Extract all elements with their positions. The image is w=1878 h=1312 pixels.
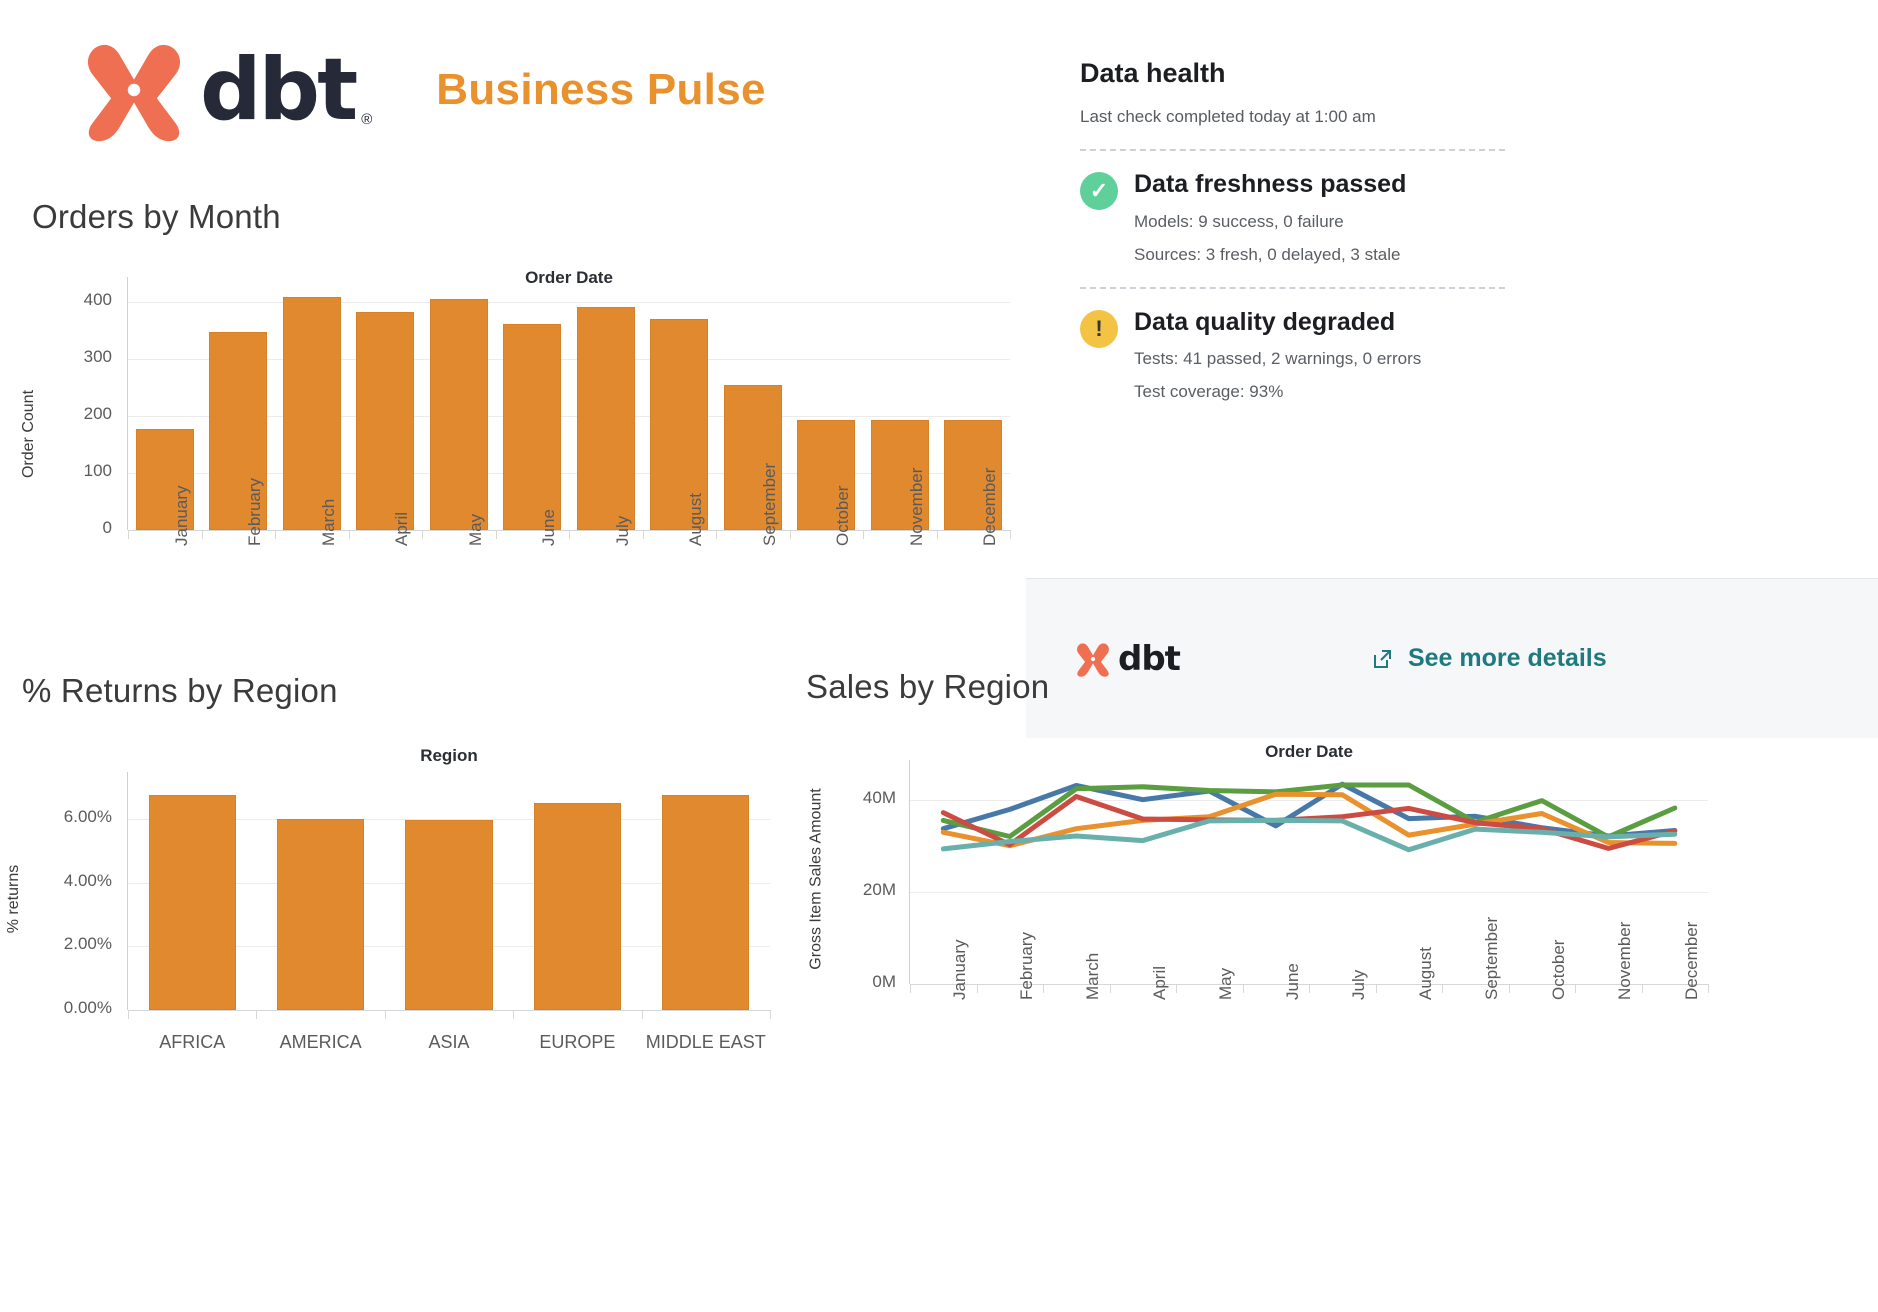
- health-item-line: Tests: 41 passed, 2 warnings, 0 errors: [1134, 349, 1600, 369]
- x-tick-label: MIDDLE EAST: [642, 1032, 770, 1053]
- x-tick-label: October: [1549, 940, 1569, 1000]
- bar[interactable]: [277, 819, 364, 1010]
- x-tick: [128, 530, 129, 539]
- dbt-cta-card: dbt See more details: [1026, 578, 1878, 738]
- x-tick: [256, 1010, 257, 1019]
- x-tick-label: April: [392, 512, 412, 546]
- x-tick: [716, 530, 717, 539]
- x-tick-label: March: [1083, 953, 1103, 1000]
- orders-by-month-title: Orders by Month: [32, 198, 281, 236]
- health-item-heading: Data quality degraded: [1134, 309, 1600, 337]
- x-tick: [910, 984, 911, 993]
- x-tick-label: ASIA: [385, 1032, 513, 1053]
- x-tick: [863, 530, 864, 539]
- dbt-x-logo-icon: [1074, 641, 1112, 677]
- dbt-registered-mark: ®: [361, 111, 372, 128]
- page-title: Business Pulse: [436, 65, 765, 115]
- x-tick-label: EUROPE: [513, 1032, 641, 1053]
- x-tick-label: March: [319, 499, 339, 546]
- y-tick-label: 0M: [838, 972, 896, 992]
- returns-plot-area: 0.00%2.00%4.00%6.00%AFRICAAMERICAASIAEUR…: [128, 778, 770, 1038]
- y-tick-label: 6.00%: [28, 807, 112, 827]
- y-axis-line: [127, 772, 128, 1010]
- x-tick-label: November: [907, 468, 927, 546]
- x-tick-label: June: [1283, 963, 1303, 1000]
- x-tick: [496, 530, 497, 539]
- x-tick: [1010, 530, 1011, 539]
- x-tick-label: August: [1416, 947, 1436, 1000]
- x-tick-label: July: [1349, 970, 1369, 1000]
- gridline: [128, 1010, 770, 1011]
- dbt-x-logo-icon: [78, 38, 190, 142]
- y-tick-label: 4.00%: [28, 871, 112, 891]
- see-more-details-label: See more details: [1408, 644, 1607, 673]
- x-tick-label: February: [245, 478, 265, 546]
- bar[interactable]: [577, 307, 635, 530]
- x-tick: [1575, 984, 1576, 993]
- x-tick-label: May: [1216, 968, 1236, 1000]
- x-tick-label: December: [1682, 922, 1702, 1000]
- x-tick: [1243, 984, 1244, 993]
- sales-by-region-title: Sales by Region: [806, 668, 1049, 706]
- health-item-line: Sources: 3 fresh, 0 delayed, 3 stale: [1134, 245, 1600, 265]
- line-series-blue[interactable]: [943, 784, 1675, 836]
- y-tick-label: 100: [50, 461, 112, 481]
- x-tick: [513, 1010, 514, 1019]
- y-tick-label: 2.00%: [28, 934, 112, 954]
- data-health-panel: Data health Last check completed today a…: [1080, 58, 1600, 402]
- x-tick-label: September: [760, 463, 780, 546]
- returns-by-region-chart: Region % returns 0.00%2.00%4.00%6.00%AFR…: [0, 720, 800, 1312]
- x-tick: [1509, 984, 1510, 993]
- x-tick-label: July: [613, 516, 633, 546]
- x-tick: [275, 530, 276, 539]
- returns-chart-caption: Region: [128, 746, 770, 766]
- x-tick-label: January: [172, 486, 192, 546]
- x-tick: [202, 530, 203, 539]
- x-tick: [349, 530, 350, 539]
- data-health-title: Data health: [1080, 58, 1600, 89]
- x-tick-label: AMERICA: [256, 1032, 384, 1053]
- x-tick: [422, 530, 423, 539]
- x-tick: [1708, 984, 1709, 993]
- check-circle-icon: ✓: [1080, 172, 1118, 210]
- x-tick: [643, 530, 644, 539]
- x-tick-label: September: [1482, 917, 1502, 1000]
- x-tick-label: AFRICA: [128, 1032, 256, 1053]
- see-more-details-link[interactable]: See more details: [1370, 644, 1607, 673]
- divider-2: [1080, 287, 1505, 289]
- y-tick-label: 40M: [838, 788, 896, 808]
- x-tick-label: February: [1017, 932, 1037, 1000]
- external-link-icon: [1370, 647, 1394, 671]
- x-tick: [569, 530, 570, 539]
- x-tick-label: August: [686, 493, 706, 546]
- x-tick: [977, 984, 978, 993]
- cta-dbt-wordmark: dbt: [1118, 639, 1180, 679]
- health-item-line: Test coverage: 93%: [1134, 382, 1600, 402]
- dbt-logo: dbt ®: [78, 38, 372, 142]
- cta-dbt-logo: dbt: [1074, 639, 1180, 679]
- orders-by-month-chart: Order Date Order Count 0100200300400Janu…: [0, 250, 1020, 650]
- bar[interactable]: [405, 820, 492, 1010]
- x-tick: [385, 1010, 386, 1019]
- x-tick: [642, 1010, 643, 1019]
- bar[interactable]: [283, 297, 341, 530]
- x-tick: [937, 530, 938, 539]
- bar[interactable]: [662, 795, 749, 1010]
- y-axis-line: [127, 277, 128, 530]
- sales-by-region-chart: Order Date Gross Item Sales Amount 0M20M…: [806, 720, 1878, 1312]
- bar[interactable]: [534, 803, 621, 1010]
- y-tick-label: 300: [50, 347, 112, 367]
- y-tick-label: 200: [50, 404, 112, 424]
- x-tick: [1309, 984, 1310, 993]
- x-tick: [1110, 984, 1111, 993]
- x-tick: [1176, 984, 1177, 993]
- health-item-freshness: ✓ Data freshness passed Models: 9 succes…: [1080, 171, 1600, 265]
- x-tick-label: January: [950, 940, 970, 1000]
- returns-y-axis-title: % returns: [5, 865, 23, 933]
- x-tick: [1376, 984, 1377, 993]
- health-item-heading: Data freshness passed: [1134, 171, 1600, 199]
- returns-by-region-title: % Returns by Region: [22, 672, 338, 710]
- x-tick: [1043, 984, 1044, 993]
- sales-y-axis-title: Gross Item Sales Amount: [808, 788, 826, 969]
- x-tick-label: April: [1150, 966, 1170, 1000]
- health-item-quality: ! Data quality degraded Tests: 41 passed…: [1080, 309, 1600, 403]
- y-tick-label: 20M: [838, 880, 896, 900]
- dashboard-page: dbt ® Business Pulse Orders by Month Ord…: [0, 0, 1878, 1312]
- x-tick-label: December: [980, 468, 1000, 546]
- gridline: [128, 302, 1010, 303]
- x-tick-label: October: [833, 486, 853, 546]
- x-tick-label: November: [1615, 922, 1635, 1000]
- x-tick: [790, 530, 791, 539]
- bar[interactable]: [503, 324, 561, 530]
- orders-y-axis-title: Order Count: [20, 390, 38, 478]
- x-tick: [1442, 984, 1443, 993]
- y-tick-label: 0.00%: [28, 998, 112, 1018]
- y-tick-label: 400: [50, 290, 112, 310]
- x-tick: [770, 1010, 771, 1019]
- divider-1: [1080, 149, 1505, 151]
- dbt-wordmark: dbt: [200, 47, 355, 133]
- y-tick-label: 0: [50, 518, 112, 538]
- dashboard-header: dbt ® Business Pulse: [78, 38, 766, 142]
- x-tick: [1642, 984, 1643, 993]
- bar[interactable]: [356, 312, 414, 530]
- warning-circle-icon: !: [1080, 310, 1118, 348]
- bar[interactable]: [430, 299, 488, 530]
- x-tick: [128, 1010, 129, 1019]
- x-tick-label: May: [466, 514, 486, 546]
- x-tick-label: June: [539, 509, 559, 546]
- sales-plot-area: 0M20M40MJanuaryFebruaryMarchAprilMayJune…: [910, 768, 1830, 988]
- data-health-subtitle: Last check completed today at 1:00 am: [1080, 107, 1600, 127]
- health-item-line: Models: 9 success, 0 failure: [1134, 212, 1600, 232]
- bar[interactable]: [149, 795, 236, 1010]
- sales-chart-caption: Order Date: [910, 742, 1708, 762]
